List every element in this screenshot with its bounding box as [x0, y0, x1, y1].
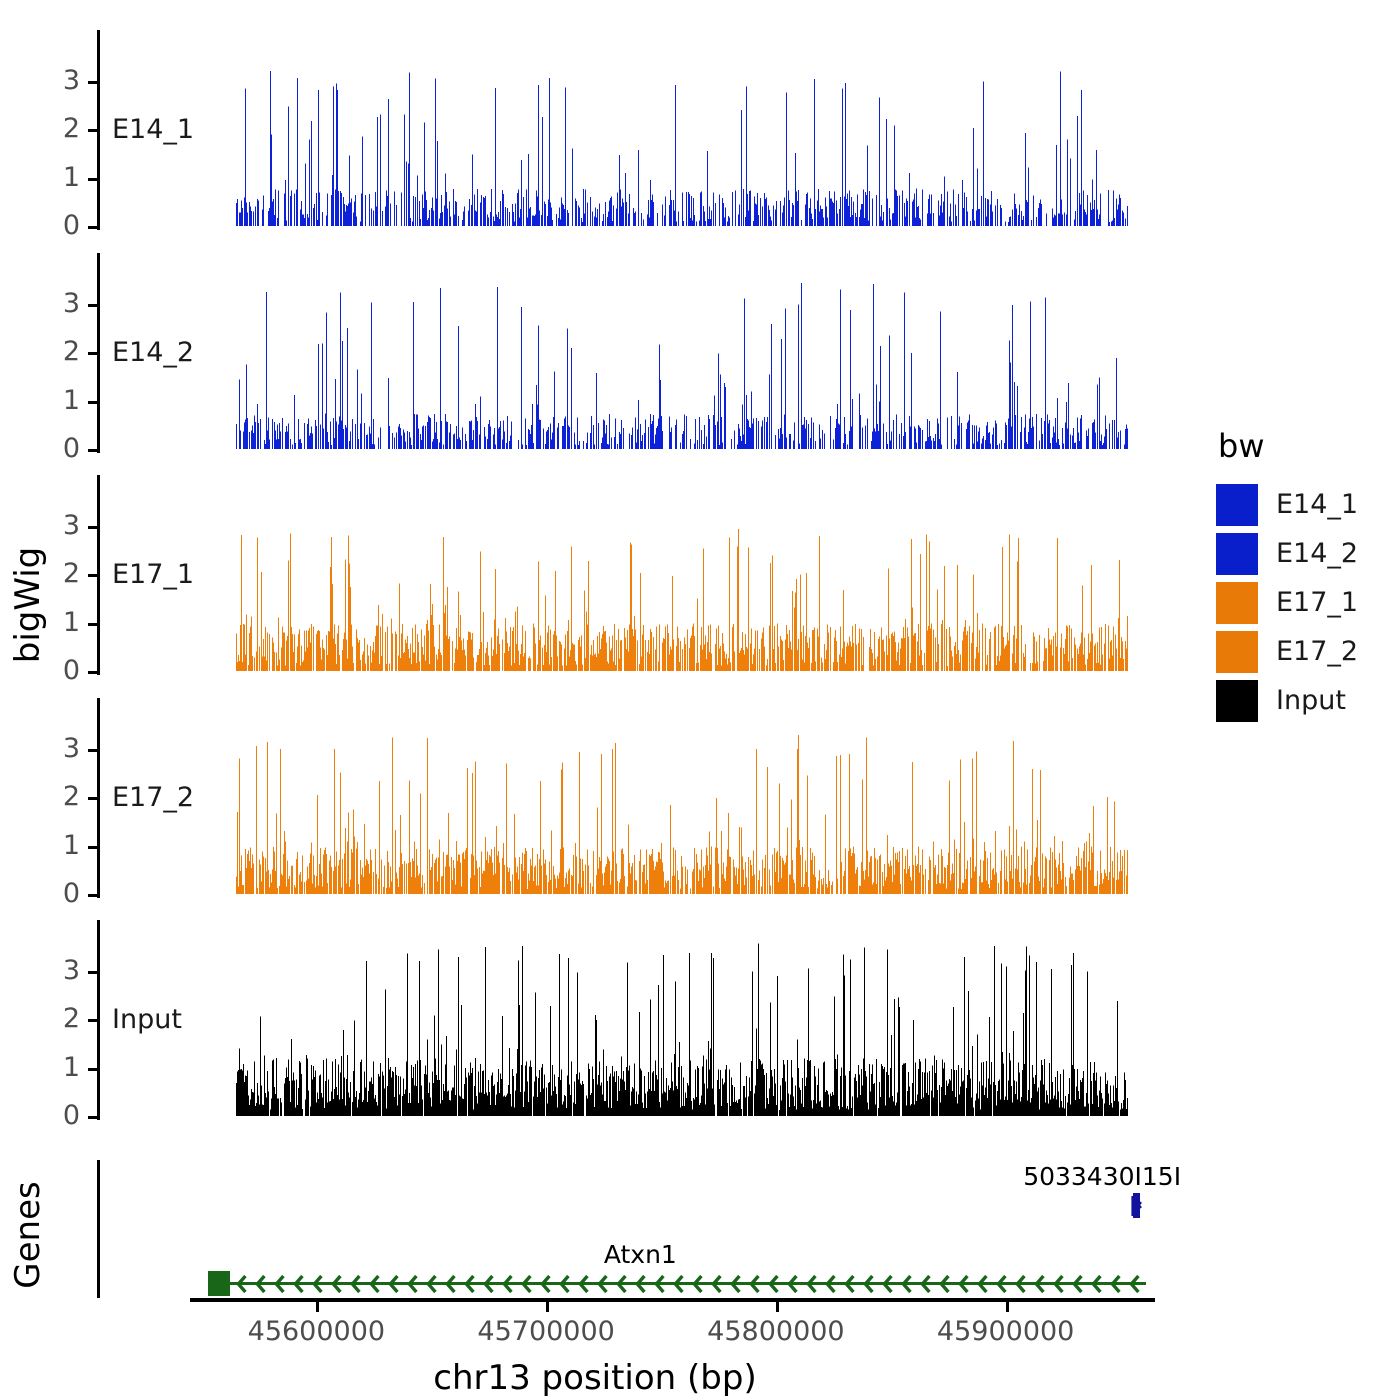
legend-item-e14_1[interactable]: E14_1 — [1216, 480, 1358, 529]
legend-swatch — [1216, 533, 1258, 575]
track-label-input: Input — [112, 1006, 182, 1033]
y-tick-label: 1 — [40, 609, 80, 636]
x-tick-label: 45700000 — [477, 1316, 614, 1347]
y-axis-line — [97, 30, 100, 230]
y-tick — [88, 749, 97, 752]
y-tick — [88, 449, 97, 452]
gene-label: Atxn1 — [604, 1240, 677, 1269]
legend-label: E17_1 — [1276, 587, 1358, 618]
y-axis-line — [97, 920, 100, 1120]
genome-browser-figure: bigWig Genes 0123E14_10123E14_20123E17_1… — [0, 0, 1400, 1400]
gene-plot-area: Atxn15033430I15I — [190, 1160, 1155, 1298]
y-tick — [88, 226, 97, 229]
legend-swatch — [1216, 680, 1258, 722]
y-tick — [88, 1116, 97, 1119]
y-tick — [88, 304, 97, 307]
y-tick-label: 0 — [40, 880, 80, 907]
gene-exon[interactable] — [208, 1271, 230, 1296]
track-panel-e14_2: 0123E14_2 — [0, 253, 1200, 453]
x-tick — [316, 1302, 319, 1312]
y-tick — [88, 401, 97, 404]
y-tick-label: 0 — [40, 1102, 80, 1129]
gene-label: 5033430I15I — [1023, 1162, 1181, 1191]
y-tick — [88, 797, 97, 800]
signal-plot-e14_1 — [236, 30, 1128, 230]
y-tick-label: 3 — [40, 957, 80, 984]
y-tick-label: 0 — [40, 657, 80, 684]
y-tick-label: 3 — [40, 735, 80, 762]
legend-title: bw — [1218, 430, 1358, 462]
legend-item-e17_1[interactable]: E17_1 — [1216, 578, 1358, 627]
coverage-profile — [236, 30, 1128, 230]
y-tick-label: 3 — [40, 512, 80, 539]
track-label-e14_2: E14_2 — [112, 339, 194, 366]
y-tick — [88, 81, 97, 84]
y-tick — [88, 623, 97, 626]
y-tick-label: 1 — [40, 387, 80, 414]
x-tick — [1006, 1302, 1009, 1312]
y-tick-label: 3 — [40, 290, 80, 317]
legend-label: E14_1 — [1276, 489, 1358, 520]
genes-panel: Atxn15033430I15I — [0, 1160, 1200, 1298]
x-tick — [546, 1302, 549, 1312]
y-tick-label: 2 — [40, 338, 80, 365]
track-panel-input: 0123Input — [0, 920, 1200, 1120]
y-tick-label: 0 — [40, 435, 80, 462]
legend-item-input[interactable]: Input — [1216, 676, 1358, 725]
signal-plot-e14_2 — [236, 253, 1128, 453]
y-tick — [88, 1068, 97, 1071]
coverage-profile — [236, 920, 1128, 1120]
coverage-profile — [236, 475, 1128, 675]
y-tick — [88, 574, 97, 577]
track-label-e14_1: E14_1 — [112, 116, 194, 143]
y-tick-label: 2 — [40, 1005, 80, 1032]
y-axis-line — [97, 698, 100, 898]
y-tick — [88, 352, 97, 355]
x-tick-label: 45600000 — [248, 1316, 385, 1347]
signal-plot-e17_1 — [236, 475, 1128, 675]
track-panel-e17_1: 0123E17_1 — [0, 475, 1200, 675]
coverage-profile — [236, 698, 1128, 898]
y-tick — [88, 971, 97, 974]
legend-swatch — [1216, 582, 1258, 624]
legend-label: E17_2 — [1276, 636, 1358, 667]
gene-exon[interactable] — [1133, 1193, 1140, 1218]
legend-label: Input — [1276, 685, 1346, 716]
genes-axis-line — [97, 1160, 100, 1298]
y-tick-label: 1 — [40, 164, 80, 191]
x-tick-label: 45800000 — [707, 1316, 844, 1347]
y-axis-line — [97, 475, 100, 675]
legend: bw E14_1E14_2E17_1E17_2Input — [1216, 430, 1358, 725]
legend-swatch — [1216, 631, 1258, 673]
y-tick-label: 2 — [40, 115, 80, 142]
y-tick — [88, 178, 97, 181]
y-tick-label: 1 — [40, 832, 80, 859]
y-tick — [88, 894, 97, 897]
y-tick — [88, 526, 97, 529]
y-axis-line — [97, 253, 100, 453]
y-tick — [88, 129, 97, 132]
track-panel-e17_2: 0123E17_2 — [0, 698, 1200, 898]
signal-plot-e17_2 — [236, 698, 1128, 898]
legend-label: E14_2 — [1276, 538, 1358, 569]
y-tick-label: 0 — [40, 212, 80, 239]
coverage-profile — [236, 253, 1128, 453]
legend-item-e17_2[interactable]: E17_2 — [1216, 627, 1358, 676]
x-axis-line — [190, 1298, 1155, 1302]
y-tick-label: 2 — [40, 560, 80, 587]
x-tick — [776, 1302, 779, 1312]
y-tick — [88, 1019, 97, 1022]
y-tick-label: 3 — [40, 67, 80, 94]
legend-items: E14_1E14_2E17_1E17_2Input — [1216, 480, 1358, 725]
y-tick — [88, 671, 97, 674]
x-axis-title: chr13 position (bp) — [0, 1358, 1190, 1398]
signal-plot-input — [236, 920, 1128, 1120]
x-tick-label: 45900000 — [937, 1316, 1074, 1347]
track-label-e17_1: E17_1 — [112, 561, 194, 588]
legend-swatch — [1216, 484, 1258, 526]
y-tick-label: 2 — [40, 783, 80, 810]
strand-arrows-icon — [208, 1273, 1145, 1295]
track-panel-e14_1: 0123E14_1 — [0, 30, 1200, 230]
y-tick-label: 1 — [40, 1054, 80, 1081]
legend-item-e14_2[interactable]: E14_2 — [1216, 529, 1358, 578]
track-label-e17_2: E17_2 — [112, 784, 194, 811]
y-tick — [88, 846, 97, 849]
